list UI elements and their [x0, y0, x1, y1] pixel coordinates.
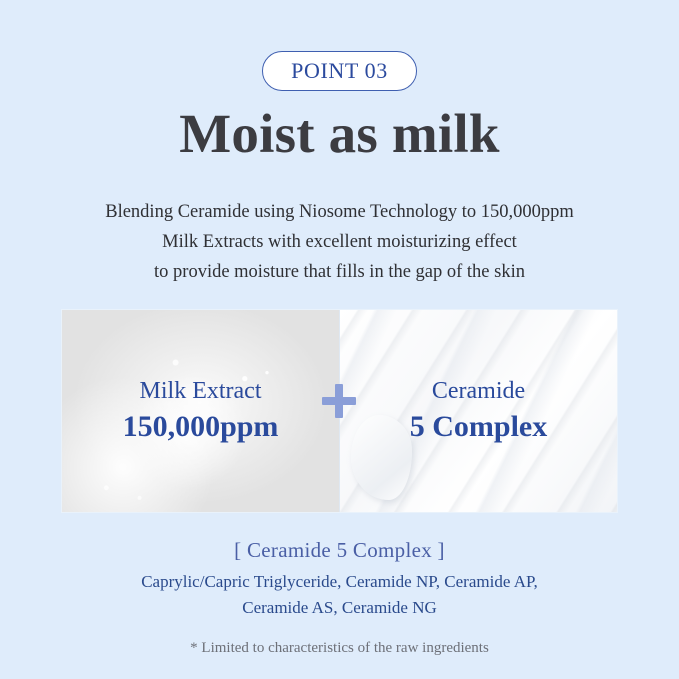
description-block: Blending Ceramide using Niosome Technolo…: [0, 198, 679, 288]
ceramide-caption: Ceramide 5 Complex: [340, 310, 617, 512]
footnote: * Limited to characteristics of the raw …: [0, 638, 679, 659]
panel-half-ceramide: Ceramide 5 Complex: [339, 310, 617, 512]
ingredients-line-2: Ceramide AS, Ceramide NG: [0, 595, 679, 621]
point-badge: POINT 03: [262, 51, 417, 91]
description-line-3: to provide moisture that fills in the ga…: [0, 258, 679, 288]
milk-caption-bottom: 150,000ppm: [123, 409, 279, 445]
panel-half-milk: Milk Extract 150,000ppm: [62, 310, 339, 512]
ceramide-complex-title: [ Ceramide 5 Complex ]: [0, 538, 679, 563]
point-badge-row: POINT 03: [0, 51, 679, 91]
page-title: Moist as milk: [0, 103, 679, 165]
description-line-2: Milk Extracts with excellent moisturizin…: [0, 228, 679, 258]
promo-page: POINT 03 Moist as milk Blending Ceramide…: [0, 0, 679, 679]
description-line-1: Blending Ceramide using Niosome Technolo…: [0, 198, 679, 228]
milk-caption-top: Milk Extract: [140, 377, 262, 406]
milk-caption: Milk Extract 150,000ppm: [62, 310, 339, 512]
ceramide-caption-bottom: 5 Complex: [410, 409, 548, 445]
plus-icon: [322, 384, 356, 418]
ingredients-line-1: Caprylic/Capric Triglyceride, Ceramide N…: [0, 569, 679, 595]
ceramide-caption-top: Ceramide: [432, 377, 525, 406]
plus-icon-vertical-bar: [335, 384, 343, 418]
ingredients-list: Caprylic/Capric Triglyceride, Ceramide N…: [0, 569, 679, 621]
